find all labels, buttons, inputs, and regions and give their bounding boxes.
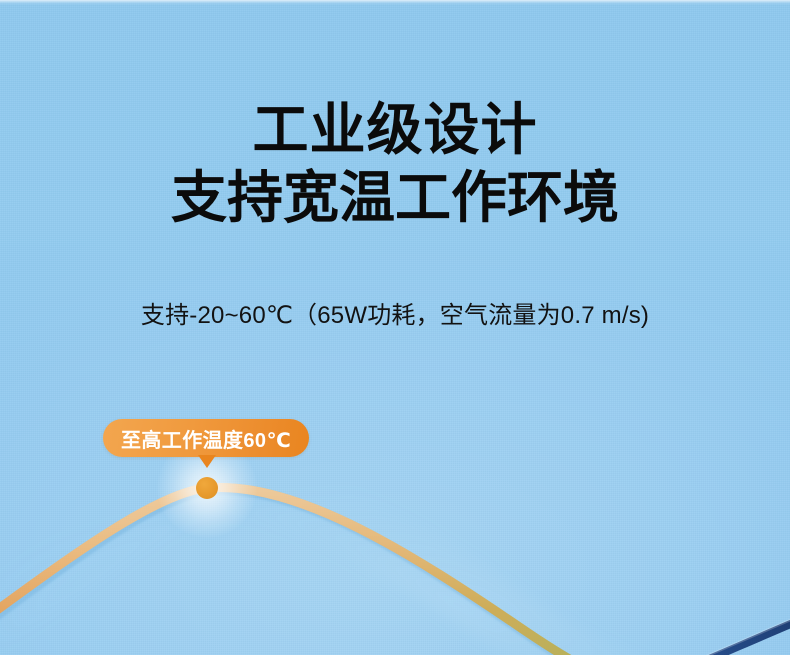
peak-temperature-badge: 至高工作温度60℃ — [103, 419, 309, 457]
page-title-line-2: 支持宽温工作环境 — [0, 164, 790, 232]
badge-pointer-icon — [198, 455, 216, 468]
arc-sheen-band — [0, 487, 790, 655]
page-title: 工业级设计 支持宽温工作环境 — [0, 96, 790, 232]
promo-poster: 工业级设计 支持宽温工作环境 支持-20~60℃（65W功耗，空气流量为0.7 … — [0, 0, 790, 655]
peak-temperature-point-icon — [196, 477, 218, 499]
page-subtitle: 支持-20~60℃（65W功耗，空气流量为0.7 m/s) — [0, 299, 790, 333]
peak-temperature-badge-label: 至高工作温度60℃ — [121, 424, 291, 453]
page-title-line-1: 工业级设计 — [0, 96, 790, 164]
